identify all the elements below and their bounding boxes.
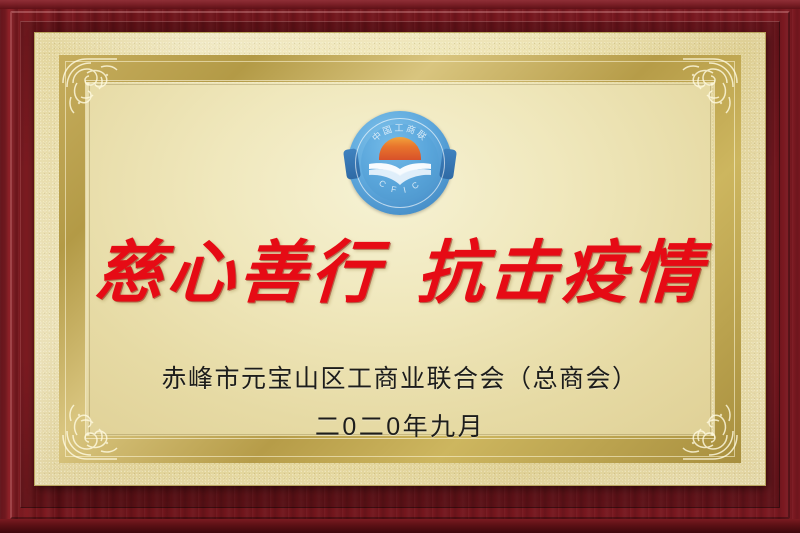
- frame-top-edge: [0, 0, 800, 9]
- issuing-organization: 赤峰市元宝山区工商业联合会（总商会）: [161, 359, 638, 395]
- plaque-content: 中国工商联 C F I C 慈心善行 抗击疫情 赤峰市元宝山区工商业联合会（总商…: [35, 33, 765, 485]
- open-book-icon: [367, 161, 433, 187]
- issue-date: 二0二0年九月: [161, 407, 638, 443]
- award-plaque: 中国工商联 C F I C 慈心善行 抗击疫情 赤峰市元宝山区工商业联合会（总商…: [0, 0, 800, 533]
- signature-block: 赤峰市元宝山区工商业联合会（总商会） 二0二0年九月: [161, 359, 638, 443]
- frame-bottom-edge: [0, 519, 800, 533]
- title-part-1: 慈心善行: [93, 239, 385, 307]
- plaque-title: 慈心善行 抗击疫情: [95, 239, 705, 307]
- title-part-2: 抗击疫情: [415, 239, 707, 307]
- cfic-emblem: 中国工商联 C F I C: [348, 111, 452, 215]
- gold-plate: 中国工商联 C F I C 慈心善行 抗击疫情 赤峰市元宝山区工商业联合会（总商…: [35, 33, 765, 485]
